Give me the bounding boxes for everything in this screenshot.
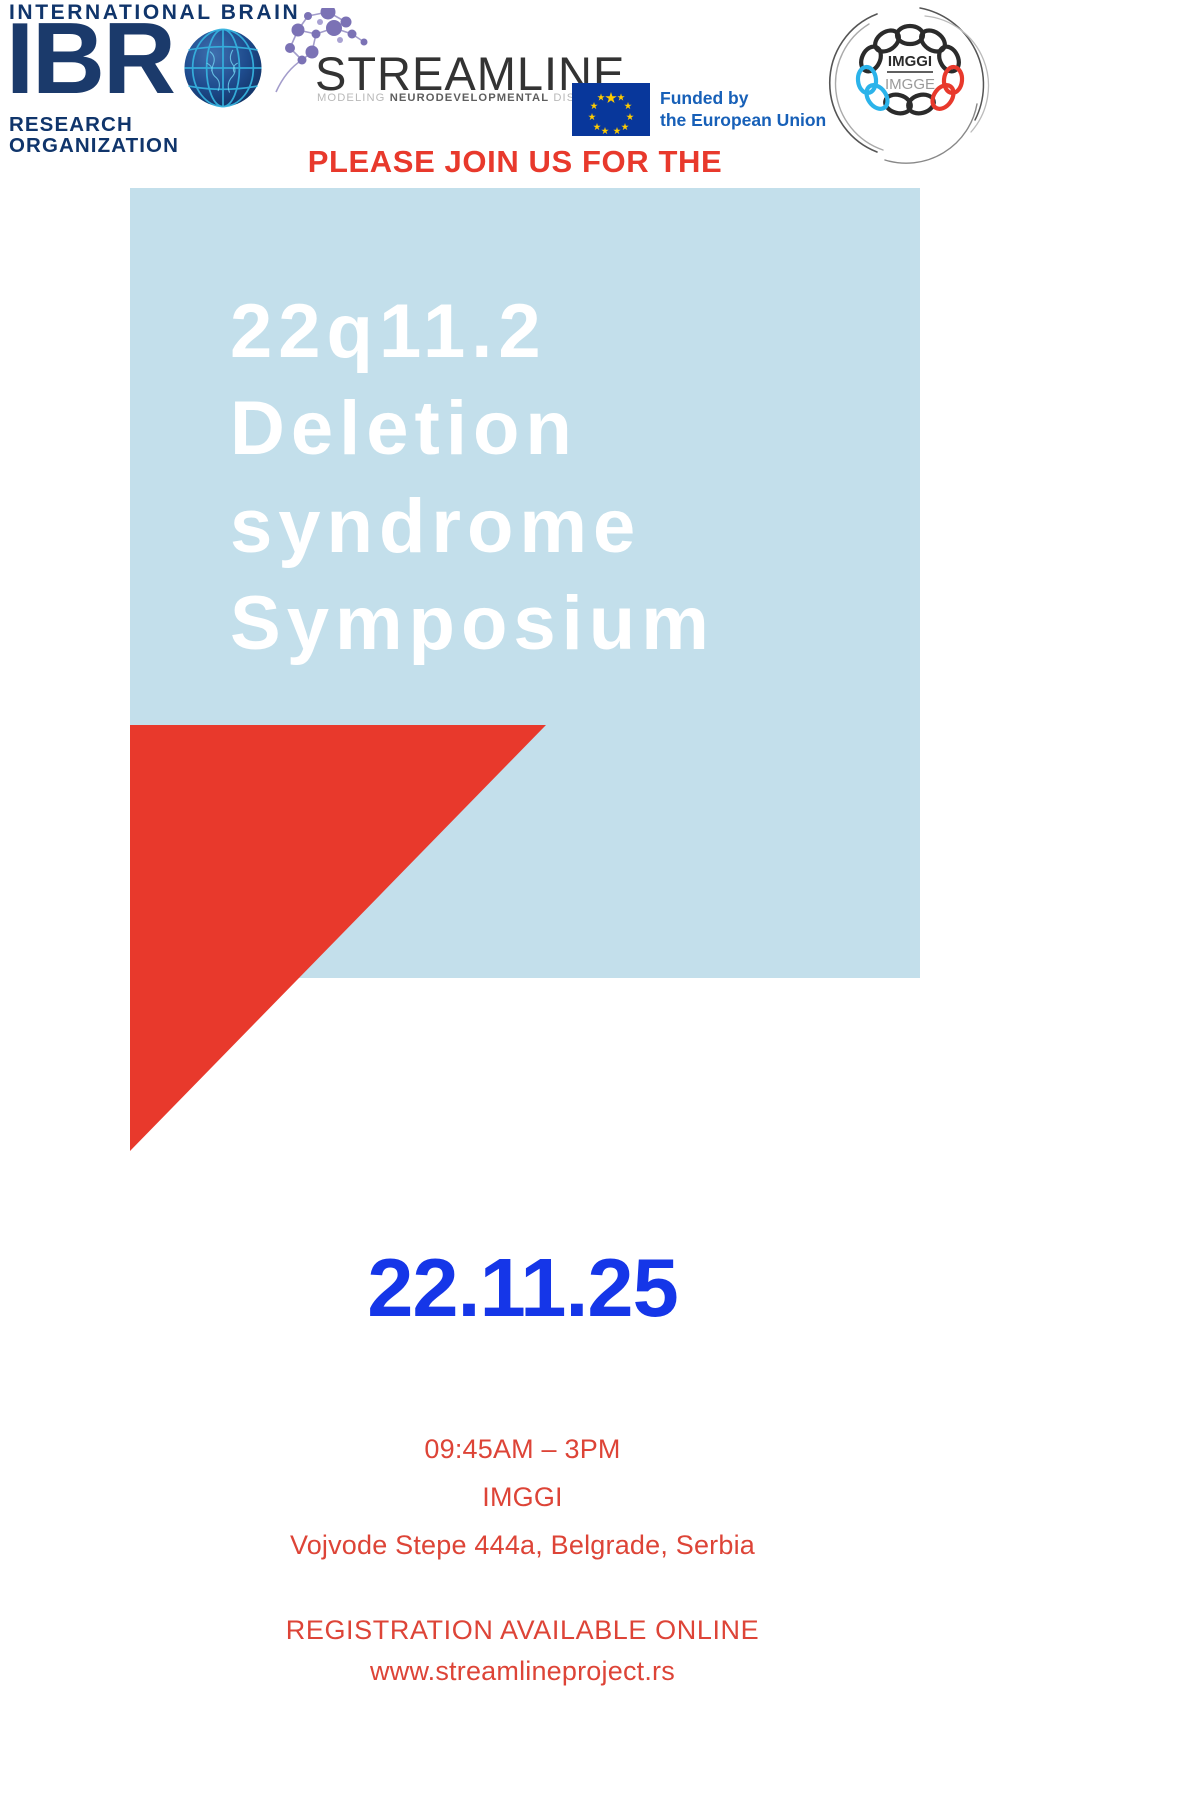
ibro-wordmark: IBR	[6, 9, 174, 110]
eu-flag-icon	[572, 83, 650, 136]
tagline-part-1: MODELING	[317, 92, 390, 104]
brain-globe-icon	[182, 27, 264, 109]
eu-line-1: Funded by	[660, 87, 826, 109]
event-details: 09:45AM – 3PM IMGGI Vojvode Stepe 444a, …	[0, 1425, 1045, 1569]
eu-funding-text: Funded by the European Union	[660, 87, 826, 132]
registration-note: REGISTRATION AVAILABLE ONLINE	[0, 1610, 1045, 1651]
imggi-logo: IMGGI IMGGE	[825, 0, 995, 165]
title-line-3: syndrome	[230, 478, 920, 575]
event-address: Vojvode Stepe 444a, Belgrade, Serbia	[0, 1521, 1045, 1569]
title-line-1: 22q11.2	[230, 283, 920, 380]
ibro-wordmark-row: IBR	[6, 23, 306, 111]
join-headline: PLEASE JOIN US FOR THE	[0, 144, 1030, 180]
eu-line-2: the European Union	[660, 109, 826, 131]
registration-url[interactable]: www.streamlineproject.rs	[0, 1651, 1045, 1692]
ibro-logo: INTERNATIONAL BRAIN IBR	[6, 2, 306, 152]
event-time: 09:45AM – 3PM	[0, 1425, 1045, 1473]
title-line-2: Deletion	[230, 380, 920, 477]
imggi-acronym-bottom: IMGGE	[885, 76, 935, 93]
streamline-logo: STREAMLINE MODELING NEURODEVELOPMENTAL D…	[268, 8, 558, 108]
page-title: 22q11.2 Deletion syndrome Symposium	[230, 283, 920, 672]
tagline-part-2: NEURODEVELOPMENTAL	[390, 92, 549, 104]
event-venue: IMGGI	[0, 1473, 1045, 1521]
title-line-4: Symposium	[230, 575, 920, 672]
event-date: 22.11.25	[0, 1240, 1045, 1336]
eu-funding-logo: Funded by the European Union	[572, 83, 842, 141]
imggi-acronym-top: IMGGI	[888, 53, 932, 70]
registration-block: REGISTRATION AVAILABLE ONLINE www.stream…	[0, 1610, 1045, 1691]
